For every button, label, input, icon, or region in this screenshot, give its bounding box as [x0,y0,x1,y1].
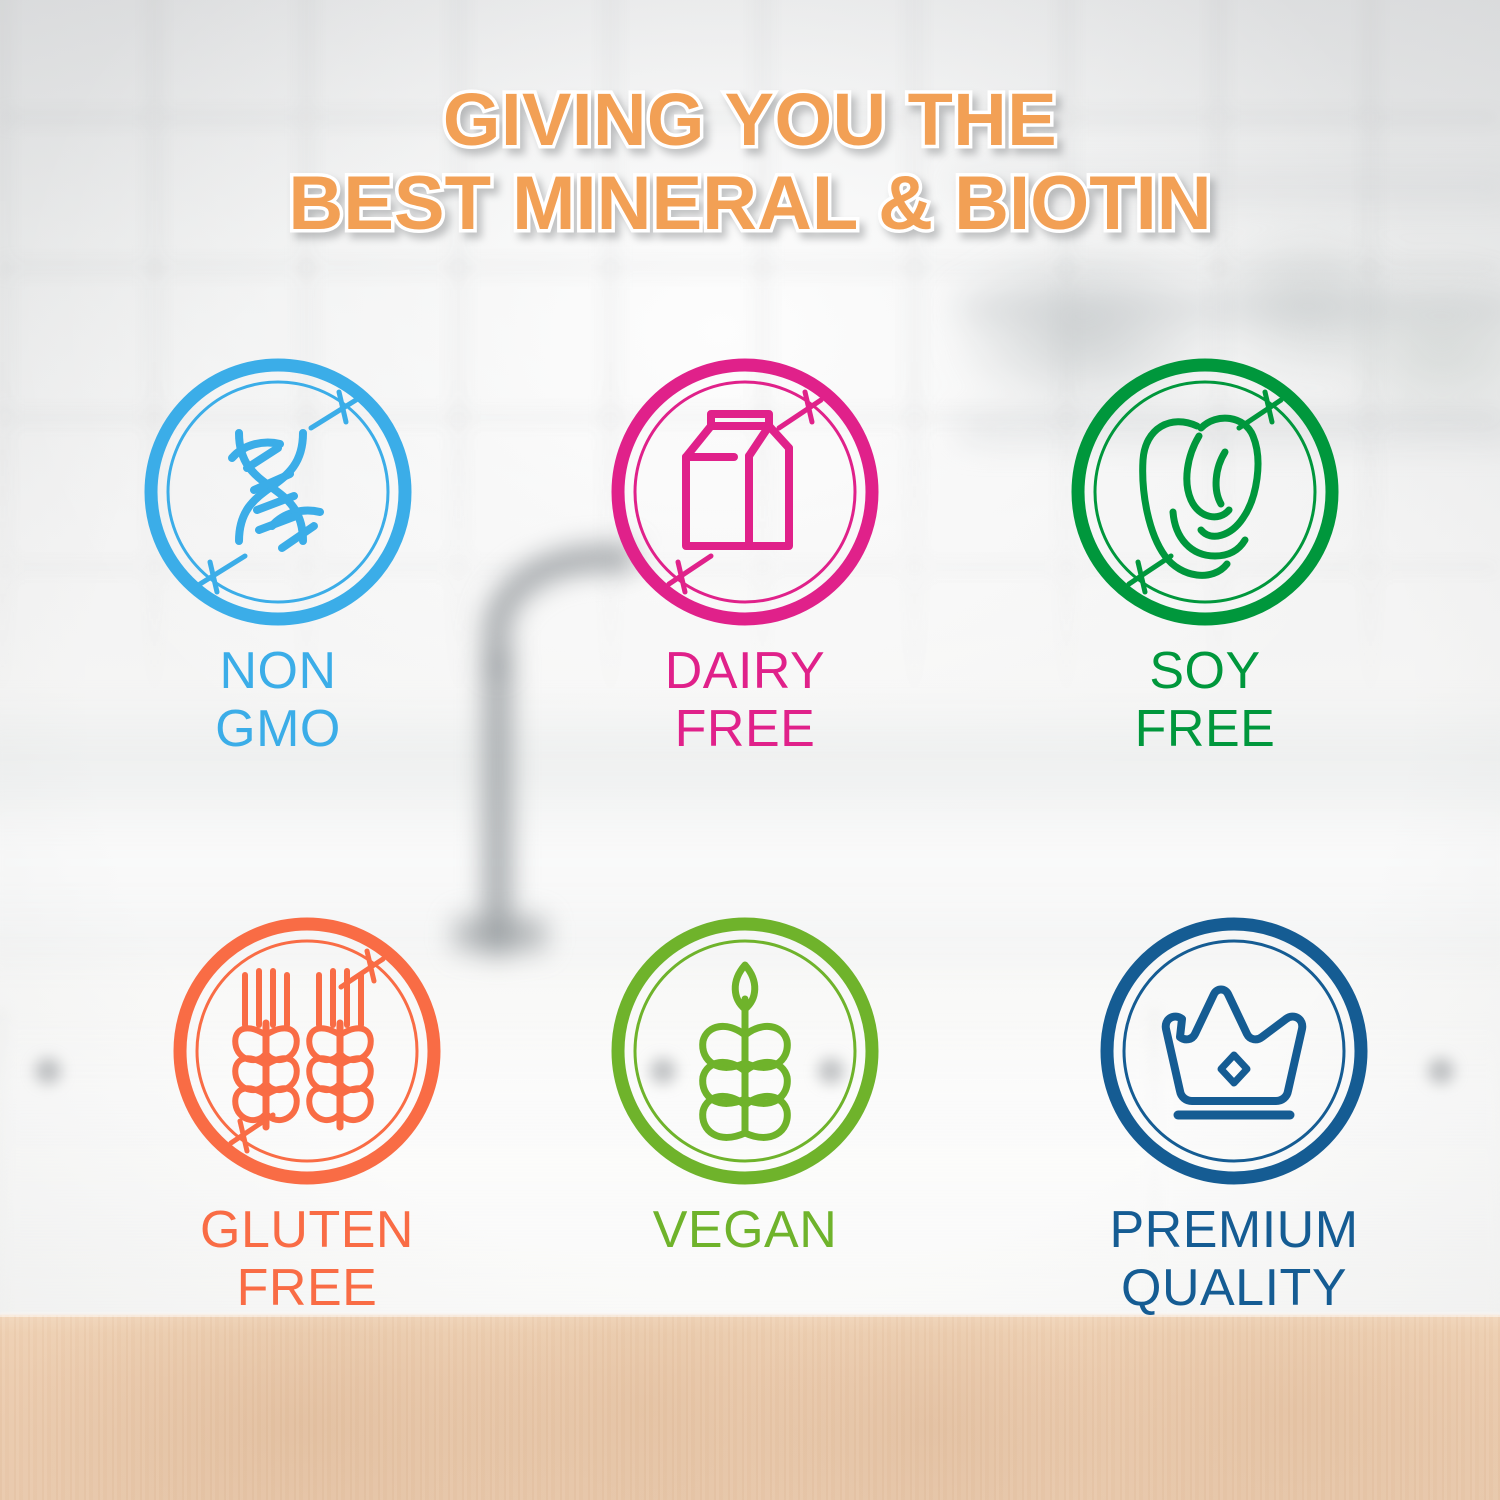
badge-label: VEGAN [609,1201,881,1259]
badge-soy-free: SOY FREE [1069,356,1341,758]
badge-premium-quality: PREMIUM QUALITY [1069,915,1399,1317]
leaf-sprig-icon [609,915,881,1187]
infographic-canvas: GIVING YOU THE BEST MINERAL & BIOTIN [0,0,1500,1500]
badge-vegan: VEGAN [609,915,881,1259]
headline-line-1: GIVING YOU THE [0,78,1500,162]
crown-icon [1098,915,1370,1187]
wheat-stalks-icon [171,915,443,1187]
badge-label: GLUTEN FREE [142,1201,472,1317]
milk-carton-icon [609,356,881,628]
page-title: GIVING YOU THE BEST MINERAL & BIOTIN [0,78,1500,246]
badge-label: NON GMO [142,642,414,758]
badge-dairy-free: DAIRY FREE [609,356,881,758]
badge-non-gmo: NON GMO [142,356,414,758]
wood-table-surface [0,1315,1500,1500]
dna-helix-icon [142,356,414,628]
soybean-icon [1069,356,1341,628]
badge-label: DAIRY FREE [609,642,881,758]
badge-label: SOY FREE [1069,642,1341,758]
badge-label: PREMIUM QUALITY [1069,1201,1399,1317]
badge-gluten-free: GLUTEN FREE [142,915,472,1317]
headline-line-2: BEST MINERAL & BIOTIN [0,162,1500,246]
